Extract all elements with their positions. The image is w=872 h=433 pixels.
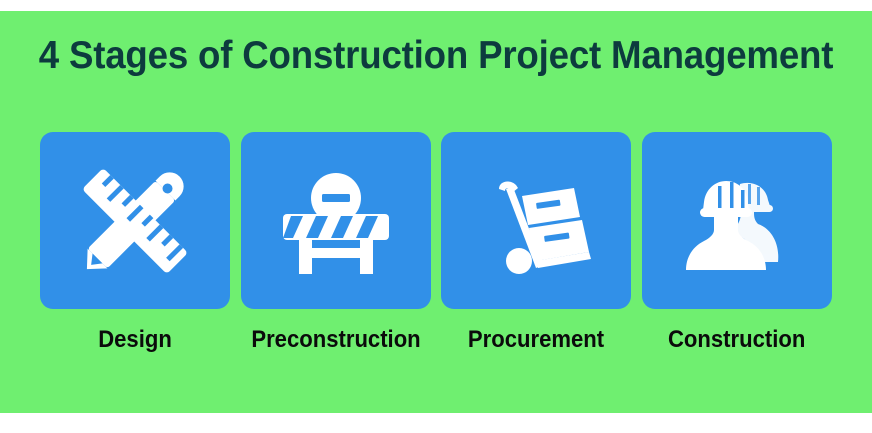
stage-tile-design[interactable] (40, 132, 230, 309)
hard-hat-workers-icon (678, 162, 796, 280)
stage-label-preconstruction: Preconstruction (251, 326, 420, 354)
stage-list: Design (40, 132, 832, 382)
stage-tile-preconstruction[interactable] (241, 132, 431, 309)
stage-tile-procurement[interactable] (441, 132, 631, 309)
road-barrier-icon (277, 162, 395, 280)
stage-tile-construction[interactable] (642, 132, 832, 309)
stage-item-design[interactable]: Design (40, 132, 230, 354)
stage-item-construction[interactable]: Construction (642, 132, 832, 354)
page-title: 4 Stages of Construction Project Managem… (26, 33, 846, 79)
infographic-root: 4 Stages of Construction Project Managem… (0, 0, 872, 433)
stage-item-preconstruction[interactable]: Preconstruction (241, 132, 431, 354)
stage-label-procurement: Procurement (468, 326, 604, 354)
stage-label-design: Design (98, 326, 172, 354)
stage-label-construction: Construction (668, 326, 805, 354)
stage-item-procurement[interactable]: Procurement (441, 132, 631, 354)
hand-truck-boxes-icon (477, 162, 595, 280)
ruler-pencil-icon (76, 162, 194, 280)
